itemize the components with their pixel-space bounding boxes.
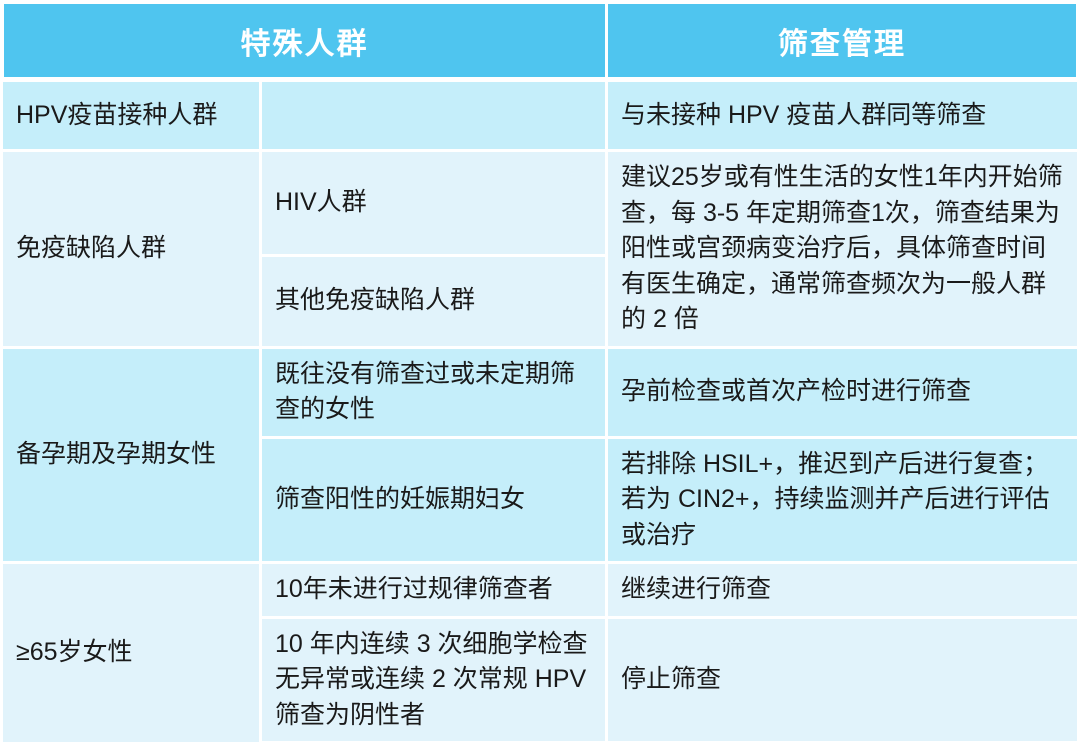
header-screening-management: 筛查管理 <box>608 0 1080 82</box>
table-header: 特殊人群 筛查管理 <box>0 0 1080 82</box>
subgroup-never-or-irregular-screened: 既往没有筛查过或未定期筛查的女性 <box>262 349 608 439</box>
subgroup-empty-hpv-vaccinated <box>262 82 608 152</box>
table-row: 免疫缺陷人群 HIV人群 建议25岁或有性生活的女性1年内开始筛查，每 3-5 … <box>0 152 1080 257</box>
management-immunodeficient: 建议25岁或有性生活的女性1年内开始筛查，每 3-5 年定期筛查1次，筛查结果为… <box>608 152 1080 349</box>
management-hpv-vaccinated: 与未接种 HPV 疫苗人群同等筛查 <box>608 82 1080 152</box>
group-label-immunodeficient: 免疫缺陷人群 <box>0 152 262 349</box>
header-special-population: 特殊人群 <box>0 0 608 82</box>
group-label-over-65: ≥65岁女性 <box>0 564 262 745</box>
table-row: ≥65岁女性 10年未进行过规律筛查者 继续进行筛查 <box>0 564 1080 619</box>
management-stop-screening: 停止筛查 <box>608 619 1080 745</box>
subgroup-three-negative-cytology: 10 年内连续 3 次细胞学检查无异常或连续 2 次常规 HPV 筛查为阴性者 <box>262 619 608 745</box>
table-body: HPV疫苗接种人群 与未接种 HPV 疫苗人群同等筛查 免疫缺陷人群 HIV人群… <box>0 82 1080 745</box>
subgroup-other-immunodeficient: 其他免疫缺陷人群 <box>262 257 608 349</box>
special-population-screening-table: 特殊人群 筛查管理 HPV疫苗接种人群 与未接种 HPV 疫苗人群同等筛查 免疫… <box>0 0 1080 745</box>
management-continue-screening: 继续进行筛查 <box>608 564 1080 619</box>
subgroup-hiv: HIV人群 <box>262 152 608 257</box>
header-row: 特殊人群 筛查管理 <box>0 0 1080 82</box>
subgroup-no-regular-screening-10y: 10年未进行过规律筛查者 <box>262 564 608 619</box>
subgroup-screen-positive-pregnant: 筛查阳性的妊娠期妇女 <box>262 439 608 565</box>
table-screenshot-root: 特殊人群 筛查管理 HPV疫苗接种人群 与未接种 HPV 疫苗人群同等筛查 免疫… <box>0 0 1080 739</box>
table-row: HPV疫苗接种人群 与未接种 HPV 疫苗人群同等筛查 <box>0 82 1080 152</box>
management-prepregnancy-screening: 孕前检查或首次产检时进行筛查 <box>608 349 1080 439</box>
group-label-pregnancy: 备孕期及孕期女性 <box>0 349 262 565</box>
table-row: 备孕期及孕期女性 既往没有筛查过或未定期筛查的女性 孕前检查或首次产检时进行筛查 <box>0 349 1080 439</box>
management-screen-positive-pregnant: 若排除 HSIL+，推迟到产后进行复查；若为 CIN2+，持续监测并产后进行评估… <box>608 439 1080 565</box>
group-label-hpv-vaccinated: HPV疫苗接种人群 <box>0 82 262 152</box>
